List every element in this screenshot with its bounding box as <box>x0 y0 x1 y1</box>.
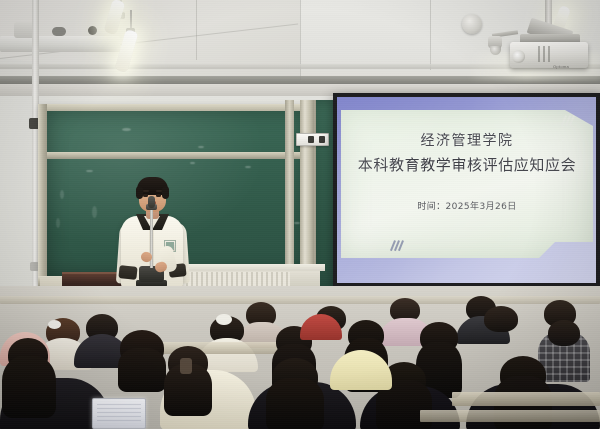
projector-lens <box>512 50 525 63</box>
chalk-smudge <box>198 146 204 148</box>
speaker-icon <box>462 14 482 34</box>
chalk-smudge <box>245 166 251 168</box>
presenter-left-cuff <box>118 265 137 280</box>
projector-vent <box>538 46 540 62</box>
chalk-smudge <box>92 206 97 218</box>
chalk-smudge <box>56 218 60 228</box>
podium-grill <box>176 272 290 286</box>
student-head <box>548 320 580 346</box>
switch-button[interactable] <box>308 136 314 143</box>
switch-button[interactable] <box>319 136 325 143</box>
student-long-hair <box>2 356 56 418</box>
bench-row <box>452 392 600 406</box>
presenter-hair-left <box>136 186 143 199</box>
blackboard-top-frame <box>38 104 314 111</box>
blackboard-divider-rail <box>42 152 310 159</box>
presenter-eye-left <box>143 194 148 197</box>
student-head <box>484 306 518 332</box>
presenter-hair-right <box>162 186 169 199</box>
audience-area: THOMPSON ORIGINAL <box>0 286 600 429</box>
conduit-bolt <box>88 26 97 35</box>
slide-title-line-2: 本科教育教学审核评估应知应会 <box>358 158 576 173</box>
slide-date-label: 时间：2025年3月26日 <box>417 199 516 212</box>
hair-clip <box>180 358 192 374</box>
chalk-smudge <box>122 128 131 131</box>
blackboard-slide-rail <box>300 100 314 288</box>
slide-text-block: 经济管理学院 本科教育教学审核评估应知应会 时间：2025年3月26日 <box>341 110 593 258</box>
projector-brand-label: Optoma <box>553 64 569 69</box>
ceiling-seam <box>196 0 197 60</box>
presenter-eyebrow-left <box>143 190 149 192</box>
presenter-eye-right <box>156 194 161 197</box>
conduit-fitting <box>52 27 66 36</box>
blackboard-slide-rail-inner <box>285 100 294 288</box>
blackboard-left-frame <box>38 104 47 284</box>
student-long-hair <box>118 348 166 392</box>
bench-row <box>0 296 600 304</box>
laptop-screen-content <box>97 404 141 424</box>
chalk-smudge <box>86 170 93 172</box>
slide-title-line-1: 经济管理学院 <box>421 134 514 148</box>
chalk-smudge <box>60 190 64 199</box>
microphone-icon[interactable] <box>148 196 155 208</box>
chalk-smudge <box>190 162 195 164</box>
ceiling-seam <box>430 0 431 70</box>
hair-bun <box>216 314 232 325</box>
bench-row <box>420 410 600 422</box>
presenter-eyebrow-right <box>156 190 162 192</box>
student-long-hair <box>266 378 324 429</box>
hair-scrunchie <box>48 320 61 329</box>
projector-vent <box>543 46 545 62</box>
wall-conduit <box>0 36 120 52</box>
lecture-hall-photo: Optoma 经济管理学院 本科教育教学审核评估应知应会 时间：2025年3月2… <box>0 0 600 429</box>
projector-vent <box>548 46 550 62</box>
